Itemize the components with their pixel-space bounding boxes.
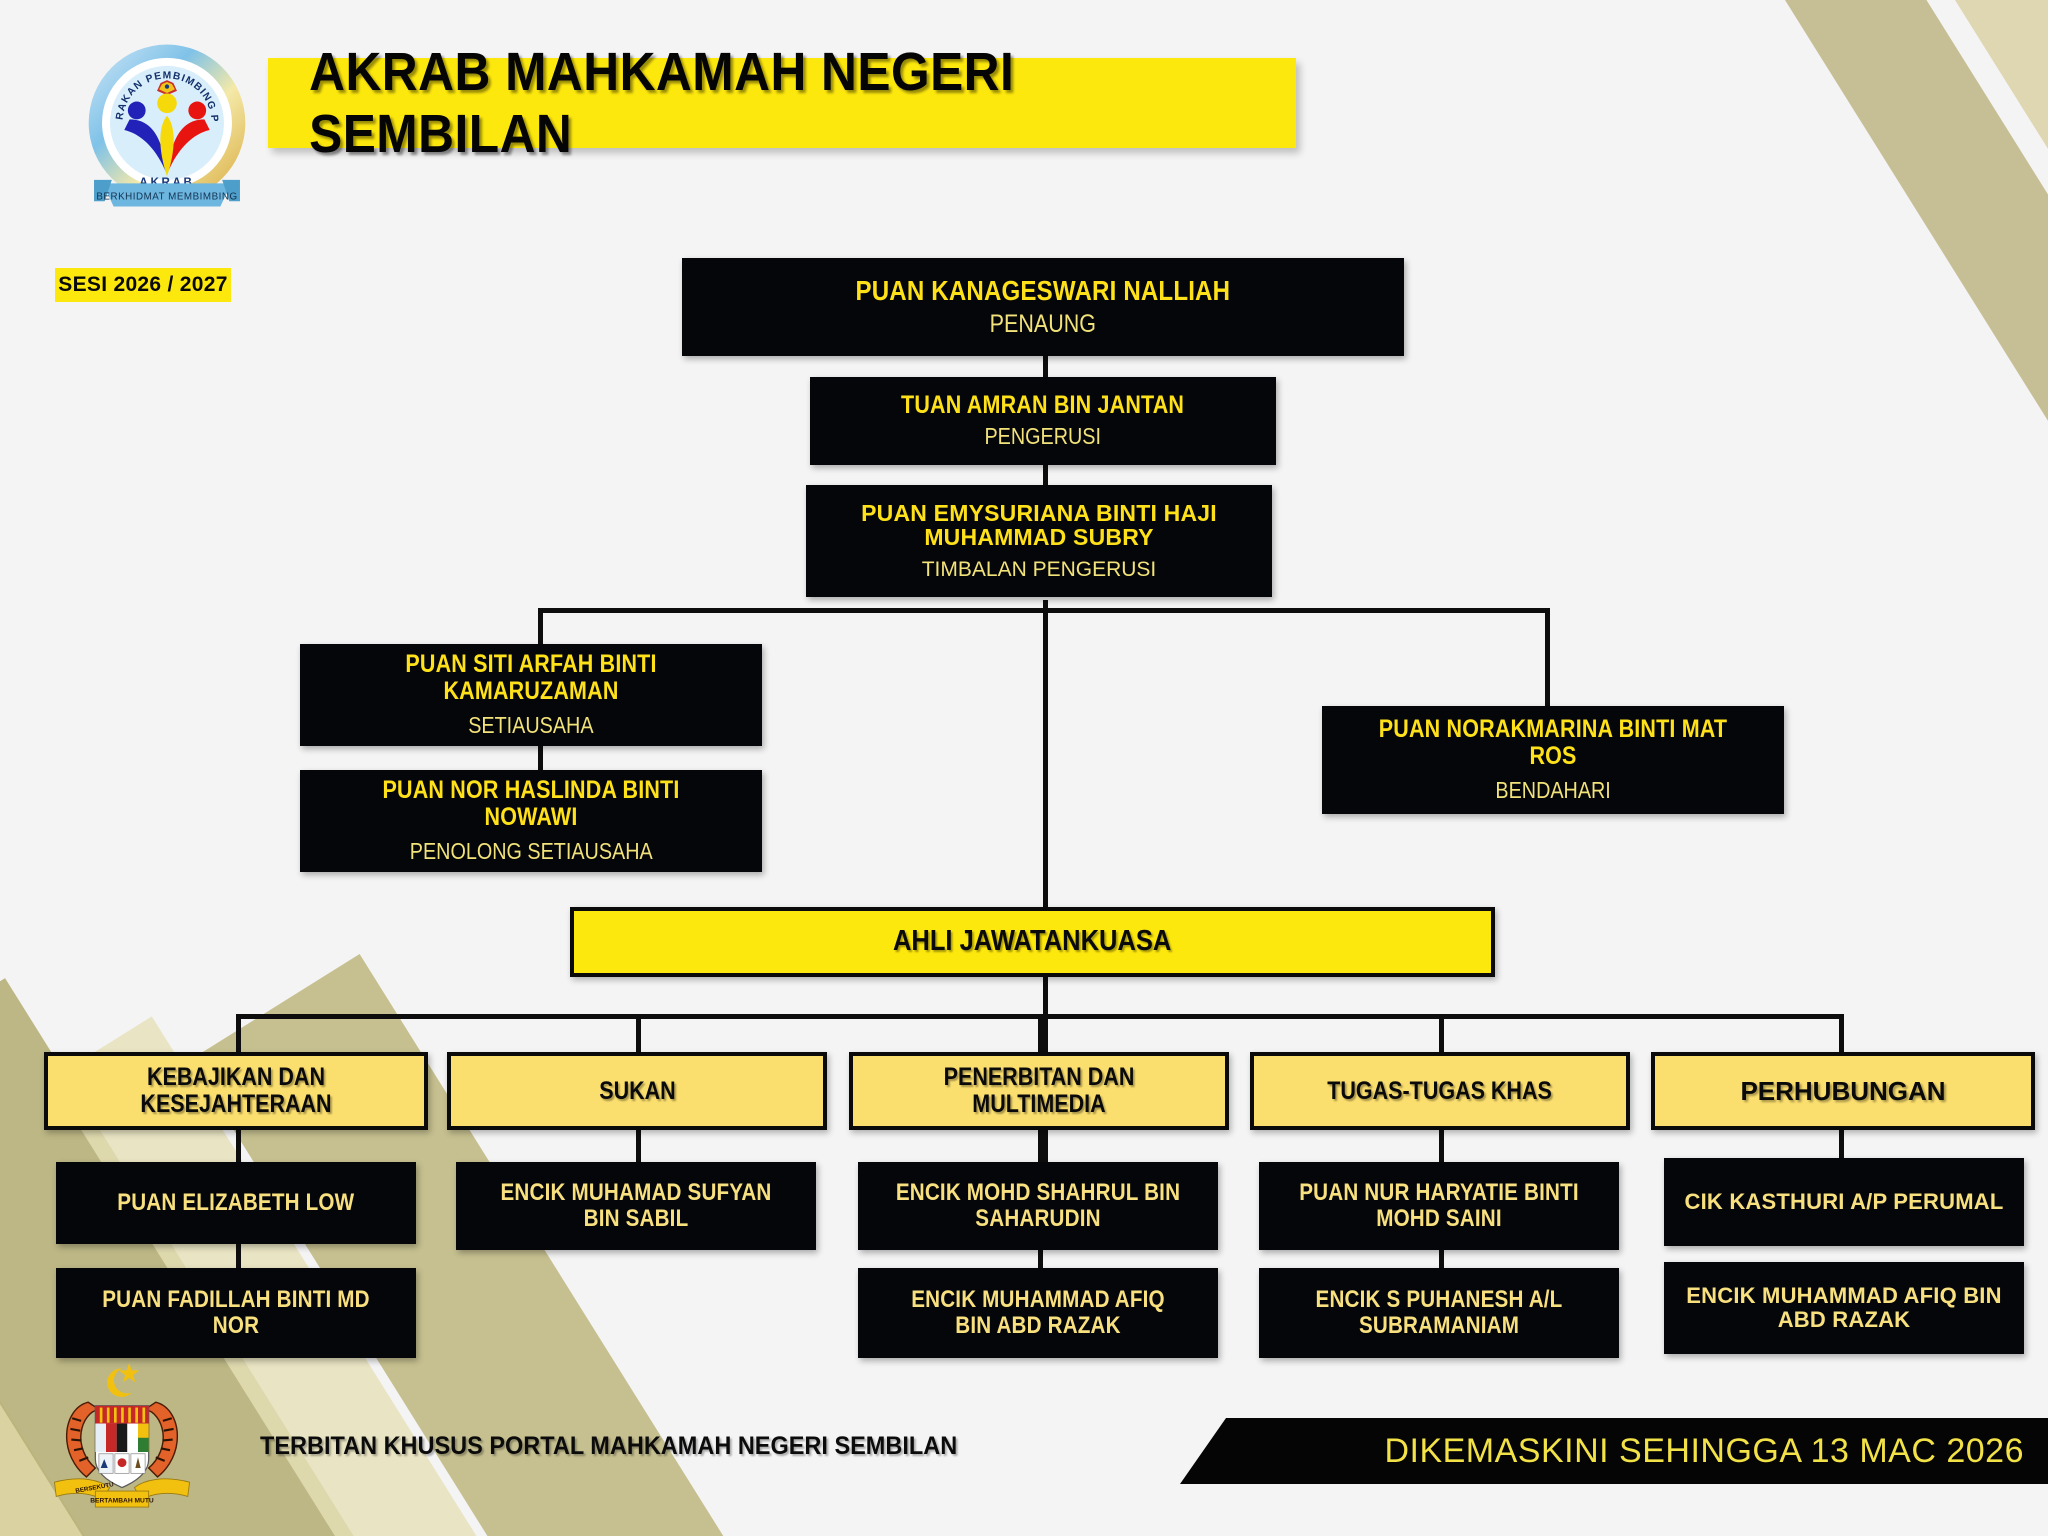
node-assistant-secretary-role: PENOLONG SETIAUSAHA [410,839,653,865]
node-secretary-role: SETIAUSAHA [468,713,593,739]
node-deputy-chairman: PUAN EMYSURIANA BINTI HAJI MUHAMMAD SUBR… [806,485,1272,597]
node-secretary: PUAN SITI ARFAH BINTI KAMARUZAMAN SETIAU… [300,644,762,746]
member-name: ENCIK MUHAMMAD AFIQ BIN ABD RAZAK [1672,1284,2016,1331]
member-name: PUAN ELIZABETH LOW [117,1190,354,1216]
node-assistant-secretary: PUAN NOR HASLINDA BINTI NOWAWI PENOLONG … [300,770,762,872]
member-name: CIK KASTHURI A/P PERUMAL [1685,1190,2004,1214]
category-perhubungan: PERHUBUNGAN [1651,1052,2035,1130]
node-patron-role: PENAUNG [990,310,1096,338]
member-name: ENCIK MOHD SHAHRUL BIN SAHARUDIN [892,1180,1184,1231]
member-box: PUAN FADILLAH BINTI MD NOR [56,1268,416,1358]
member-box: ENCIK MUHAMMAD AFIQ BIN ABD RAZAK [858,1268,1218,1358]
category-title: KEBAJIKAN DAN KESEJAHTERAAN [74,1064,397,1118]
connector-cat1-member [236,1130,241,1166]
node-deputy-chairman-name: PUAN EMYSURIANA BINTI HAJI MUHAMMAD SUBR… [820,501,1258,550]
akrab-logo: RAKAN PEMBIMBING PERKHIDMATAN AWAM AKRAB… [78,40,256,220]
category-sukan: SUKAN [447,1052,827,1130]
node-treasurer-role: BENDAHARI [1495,778,1610,804]
connector-bus-cat-5 [1839,1014,1844,1056]
node-chairman-role: PENGERUSI [985,424,1102,450]
node-secretary-name: PUAN SITI ARFAH BINTI KAMARUZAMAN [344,651,717,705]
member-box: PUAN NUR HARYATIE BINTI MOHD SAINI [1259,1162,1619,1250]
malaysia-coat-of-arms: BERSEKUTU BERTAMBAH MUTU [32,1356,212,1516]
connector-secretary-assistant [538,745,543,772]
footer-updated-banner: DIKEMASKINI SEHINGGA 13 MAC 2026 [1180,1418,2048,1484]
page-title-text: AKRAB MAHKAMAH NEGERI SEMBILAN [309,41,1255,165]
bg-stripe [1710,0,2048,643]
category-penerbitan-dan-multimedia: PENERBITAN DAN MULTIMEDIA [849,1052,1229,1130]
member-box: ENCIK MOHD SHAHRUL BIN SAHARUDIN [858,1162,1218,1250]
connector-bus-cat-4 [1439,1014,1444,1056]
footer-updated-text: DIKEMASKINI SEHINGGA 13 MAC 2026 [1384,1432,2048,1471]
member-name: ENCIK MUHAMMAD AFIQ BIN ABD RAZAK [892,1287,1184,1338]
category-title: PENERBITAN DAN MULTIMEDIA [879,1064,1199,1118]
connector-bus-cat-3 [1038,1014,1043,1056]
connector-officers-bus [538,608,1550,613]
category-tugas-tugas-khas: TUGAS-TUGAS KHAS [1250,1052,1630,1130]
member-box: CIK KASTHURI A/P PERUMAL [1664,1158,2024,1246]
category-title: TUGAS-TUGAS KHAS [1328,1078,1553,1105]
member-box: PUAN ELIZABETH LOW [56,1162,416,1244]
member-name: ENCIK MUHAMAD SUFYAN BIN SABIL [490,1180,782,1231]
footer-publication: TERBITAN KHUSUS PORTAL MAHKAMAH NEGERI S… [260,1432,957,1461]
member-box: ENCIK MUHAMMAD AFIQ BIN ABD RAZAK [1664,1262,2024,1354]
page-title: AKRAB MAHKAMAH NEGERI SEMBILAN [268,58,1296,148]
node-deputy-chairman-role: TIMBALAN PENGERUSI [922,558,1157,582]
committee-header-text: AHLI JAWATANKUASA [893,926,1171,957]
connector-cat2-member [636,1130,641,1166]
node-patron: PUAN KANAGESWARI NALLIAH PENAUNG [682,258,1404,356]
node-treasurer-name: PUAN NORAKMARINA BINTI MAT ROS [1366,716,1739,770]
session-badge: SESI 2026 / 2027 [55,268,231,302]
category-kebajikan-dan-kesejahteraan: KEBAJIKAN DAN KESEJAHTERAAN [44,1052,428,1130]
member-name: PUAN FADILLAH BINTI MD NOR [90,1287,382,1338]
svg-text:BERTAMBAH MUTU: BERTAMBAH MUTU [90,1498,154,1505]
node-chairman: TUAN AMRAN BIN JANTAN PENGERUSI [810,377,1276,465]
node-assistant-secretary-name: PUAN NOR HASLINDA BINTI NOWAWI [344,777,717,831]
member-box: ENCIK S PUHANESH A/L SUBRAMANIAM [1259,1268,1619,1358]
member-name: ENCIK S PUHANESH A/L SUBRAMANIAM [1293,1287,1585,1338]
node-patron-name: PUAN KANAGESWARI NALLIAH [856,276,1231,306]
connector-bus-treasurer [1545,608,1550,708]
member-box: ENCIK MUHAMAD SUFYAN BIN SABIL [456,1162,816,1250]
node-treasurer: PUAN NORAKMARINA BINTI MAT ROS BENDAHARI [1322,706,1784,814]
svg-text:BERKHIDMAT MEMBIMBING: BERKHIDMAT MEMBIMBING [96,191,237,202]
connector-cat3-member [1038,1130,1043,1166]
category-title: PERHUBUNGAN [1740,1077,1945,1105]
category-title: SUKAN [599,1078,675,1105]
node-chairman-name: TUAN AMRAN BIN JANTAN [901,392,1184,419]
committee-header: AHLI JAWATANKUASA [570,907,1495,977]
connector-bus-cat-2 [636,1014,641,1056]
connector-cat4-member [1439,1130,1444,1166]
connector-bus-cat-1 [236,1014,241,1056]
session-badge-text: SESI 2026 / 2027 [58,273,227,297]
member-name: PUAN NUR HARYATIE BINTI MOHD SAINI [1293,1180,1585,1231]
